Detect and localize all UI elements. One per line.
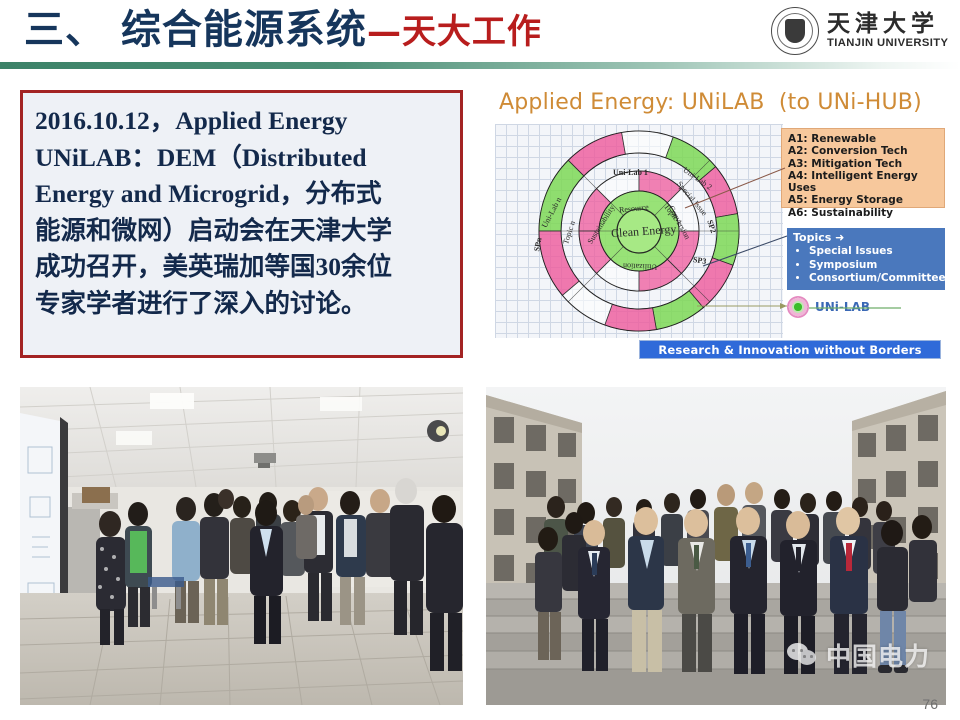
topics-list: Special Issues Symposium Consortium/Comm… xyxy=(793,245,939,286)
callout-line-2: UNiLAB：DEM（Distributed xyxy=(35,140,450,177)
watermark: 中国电力 xyxy=(787,637,930,673)
legend-item-a1: A1: Renewable xyxy=(788,133,938,145)
callout-line-1: 2016.10.12，Applied Energy xyxy=(35,103,450,140)
research-banner: Research & Innovation without Borders xyxy=(639,340,941,359)
wheel-label-uni-lab-1: Uni-Lab 1 xyxy=(613,168,648,177)
topics-box: Topics ➜ Special Issues Symposium Consor… xyxy=(787,228,945,290)
legend-item-a2: A2: Conversion Tech xyxy=(788,145,938,157)
university-logo: 天津大学 TIANJIN UNIVERSITY xyxy=(771,5,946,57)
wechat-icon xyxy=(787,643,819,667)
callout-line-3: Energy and Microgrid，分布式 xyxy=(35,176,450,213)
panel-title: Applied Energy: UNiLAB (to UNi-HUB) xyxy=(499,90,922,115)
university-seal-icon xyxy=(771,7,819,55)
photo-lab-visit xyxy=(20,387,463,705)
photo-group: 中国电力 xyxy=(486,387,946,705)
legend-item-a5: A5: Energy Storage xyxy=(788,194,938,206)
unilab-underline xyxy=(809,302,903,314)
topics-item-special-issues: Special Issues xyxy=(809,245,939,259)
slide-header: 三、 综合能源系统—天大工作 天津大学 TIANJIN UNIVERSITY xyxy=(0,0,960,68)
slide: 三、 综合能源系统—天大工作 天津大学 TIANJIN UNIVERSITY 2… xyxy=(0,0,960,720)
legend-item-a4: A4: Intelligent Energy Uses xyxy=(788,170,938,195)
page-title-sub: —天大工作 xyxy=(367,12,542,52)
callout-line-5: 成功召开，美英瑞加等国30余位 xyxy=(35,249,450,286)
photo-lab-visit-svg xyxy=(20,387,463,705)
university-logo-text: 天津大学 TIANJIN UNIVERSITY xyxy=(827,12,946,50)
page-number: 76 xyxy=(922,696,938,712)
page-title-main: 三、 综合能源系统 xyxy=(24,7,367,53)
panel-title-a: Applied Energy: UNiLAB xyxy=(499,90,765,115)
topics-pointer-line xyxy=(701,234,789,268)
topics-heading: Topics ➜ xyxy=(793,231,939,245)
topics-item-symposium: Symposium xyxy=(809,259,939,273)
watermark-text: 中国电力 xyxy=(826,637,930,673)
callout-line-3-en: Energy and Microgrid， xyxy=(35,179,305,208)
legend-pointer-line xyxy=(683,166,787,210)
university-name-en: TIANJIN UNIVERSITY xyxy=(827,37,948,50)
callout-textbox: 2016.10.12，Applied Energy UNiLAB：DEM（Dis… xyxy=(20,90,463,358)
legend-box-a1-a6: A1: Renewable A2: Conversion Tech A3: Mi… xyxy=(781,128,945,208)
page-title: 三、 综合能源系统—天大工作 xyxy=(24,4,542,58)
callout-line-3-cn: 分布式 xyxy=(305,179,382,209)
callout-line-4: 能源和微网）启动会在天津大学 xyxy=(35,213,450,250)
unilab-pointer-line xyxy=(695,294,791,316)
header-divider xyxy=(0,62,960,69)
legend-item-a6: A6: Sustainability xyxy=(788,207,938,219)
panel-title-b: (to UNi-HUB) xyxy=(779,90,922,115)
legend-item-a3: A3: Mitigation Tech xyxy=(788,158,938,170)
unilab-diagram-panel: Applied Energy: UNiLAB (to UNi-HUB) xyxy=(487,88,947,364)
wheel-label-utilization: Utilization xyxy=(623,261,658,271)
topics-item-consortium: Consortium/Committee xyxy=(809,272,939,286)
callout-line-6: 专家学者进行了深入的讨论。 xyxy=(35,286,450,323)
university-name-cn: 天津大学 xyxy=(827,12,946,37)
research-banner-text: Research & Innovation without Borders xyxy=(658,343,921,357)
